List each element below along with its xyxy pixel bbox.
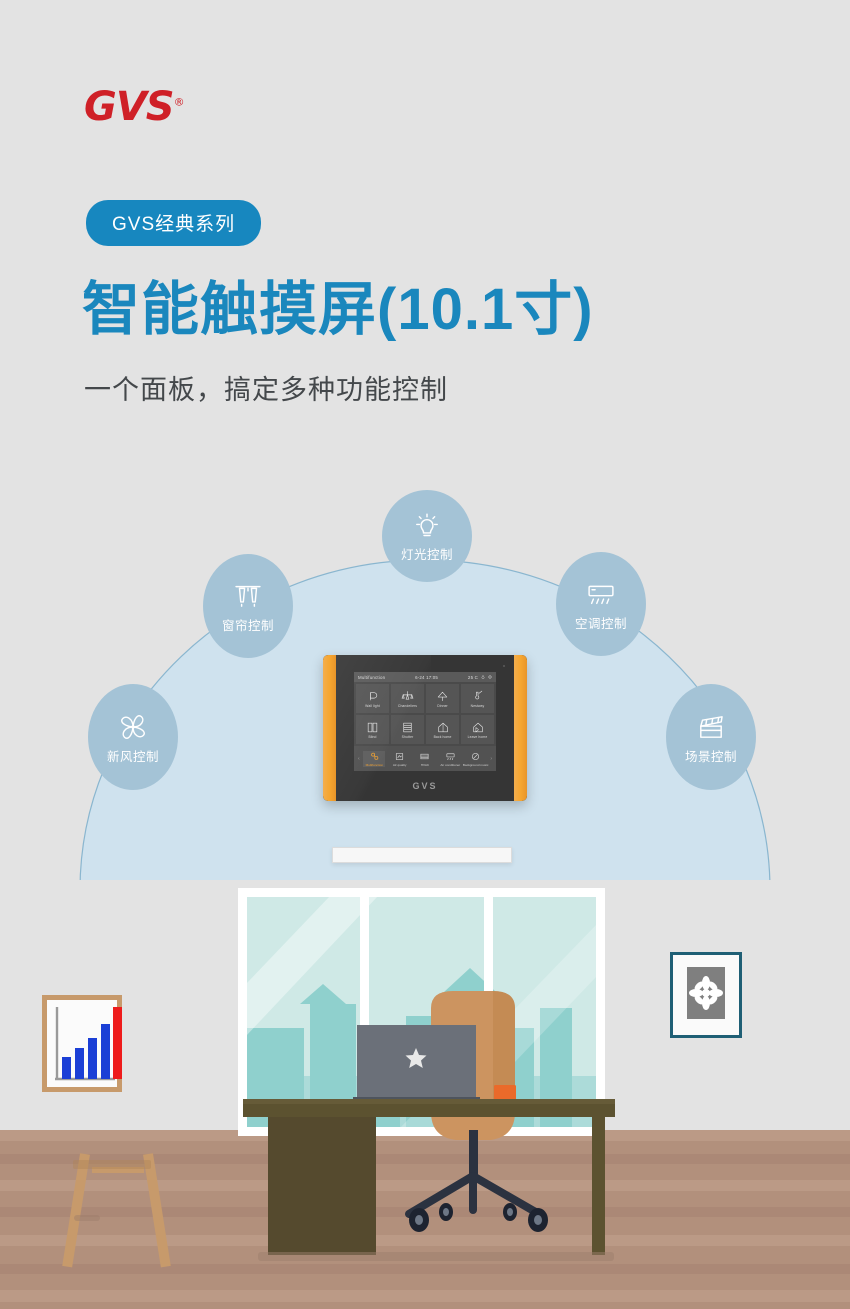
- device-bezel-right: [514, 655, 527, 801]
- nav-next-arrow[interactable]: ›: [488, 756, 494, 762]
- chart-bar: [88, 1038, 97, 1079]
- feature-bubble-label: 新风控制: [107, 746, 159, 765]
- screen-glare: [336, 655, 431, 801]
- laptop: [353, 1025, 480, 1106]
- chair-post: [469, 1130, 478, 1178]
- feature-bubble-label: 窗帘控制: [222, 615, 274, 634]
- feature-bubble-air-con[interactable]: 空调控制: [556, 552, 646, 656]
- tile-label: Nestway: [471, 704, 485, 708]
- fan-icon: [115, 710, 151, 744]
- dinner-lamp-icon: [436, 690, 449, 703]
- device-bezel-left: [323, 655, 336, 801]
- office-illustration: [0, 880, 850, 1309]
- desk-leg: [592, 1117, 605, 1255]
- desk-pedestal: [268, 1117, 376, 1255]
- settings-icon[interactable]: [488, 675, 492, 679]
- series-badge-label: GVS经典系列: [112, 214, 235, 235]
- proximity-sensor-icon: [503, 665, 505, 667]
- chart-bar-highlight: [113, 1007, 122, 1079]
- air-conditioner-icon: [445, 751, 456, 762]
- humidity-icon: [481, 675, 485, 679]
- feature-bubble-label: 空调控制: [575, 613, 627, 632]
- framed-artwork: [670, 952, 742, 1038]
- leave-home-icon: [471, 721, 484, 734]
- nav-item-label: Background music: [463, 763, 488, 767]
- nav-item-air-conditioner[interactable]: Air conditioner: [439, 751, 461, 767]
- chart-bar: [101, 1024, 110, 1079]
- nestway-icon: [471, 690, 484, 703]
- wall-mount-bar: [332, 847, 512, 863]
- curtain-icon: [230, 579, 266, 613]
- chart-bar: [62, 1057, 71, 1079]
- registered-mark: ®: [174, 96, 184, 109]
- light-bulb-icon: [409, 510, 445, 544]
- smart-touch-panel[interactable]: Multifunction 6-24 17:05 25 C: [323, 655, 527, 801]
- tile-leave-home[interactable]: Leave home: [461, 715, 494, 744]
- logo-text: GVS: [84, 84, 174, 130]
- gvs-logo: GVS®: [84, 84, 184, 130]
- feature-bubble-label: 场景控制: [685, 746, 737, 765]
- device-brand-label: GVS: [323, 781, 527, 791]
- chart-bar: [75, 1048, 84, 1079]
- page-title: 智能触摸屏(10.1寸): [82, 262, 594, 346]
- background-music-icon: [470, 751, 481, 762]
- product-marketing-page: GVS® GVS经典系列 智能触摸屏(10.1寸) 一个面板，搞定多种功能控制 …: [0, 0, 850, 1309]
- tile-label: Dinner: [437, 704, 448, 708]
- tile-label: Leave home: [468, 735, 488, 739]
- series-badge: GVS经典系列: [86, 200, 261, 246]
- feature-bubble-scene[interactable]: 场景控制: [666, 684, 756, 790]
- back-home-icon: [436, 721, 449, 734]
- feature-bubble-fresh-air[interactable]: 新风控制: [88, 684, 178, 790]
- tile-nestway[interactable]: Nestway: [461, 684, 494, 713]
- feature-bubble-curtain[interactable]: 窗帘控制: [203, 554, 293, 658]
- status-temperature: 25 C: [468, 675, 478, 680]
- feature-bubble-label: 灯光控制: [401, 544, 453, 563]
- nav-item-label: Air conditioner: [440, 763, 460, 767]
- tile-label: Back home: [434, 735, 452, 739]
- feature-bubble-lighting[interactable]: 灯光控制: [382, 490, 472, 582]
- air-conditioner-icon: [583, 577, 619, 611]
- page-subtitle: 一个面板，搞定多种功能控制: [84, 368, 448, 407]
- nav-item-background-music[interactable]: Background music: [465, 751, 487, 767]
- clapperboard-icon: [693, 710, 729, 744]
